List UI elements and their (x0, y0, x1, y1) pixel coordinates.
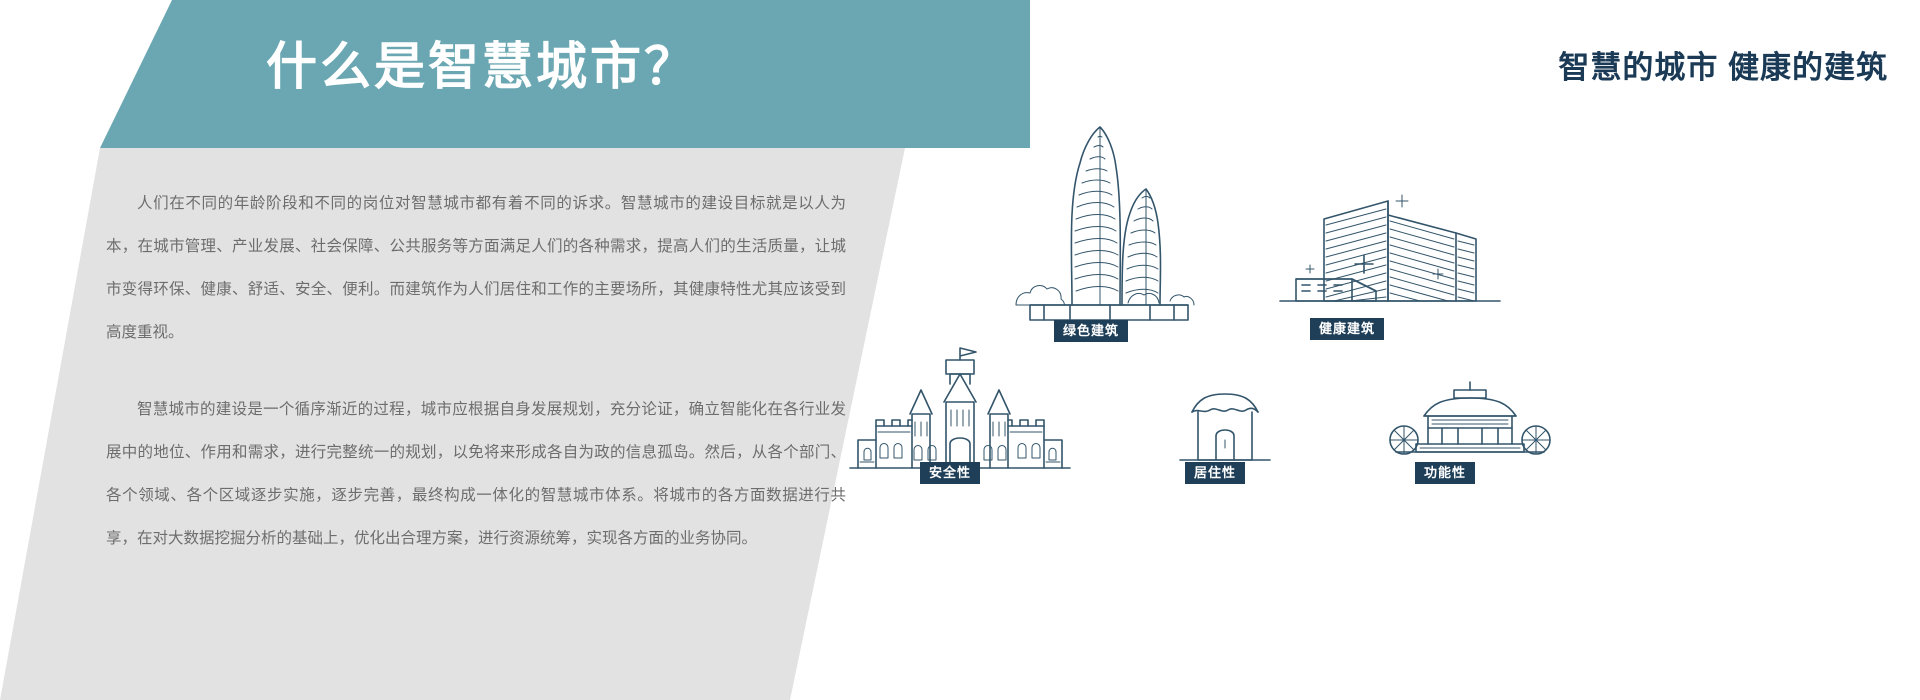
castle-icon (850, 340, 1070, 470)
illustration-label-safety: 安全性 (920, 462, 980, 484)
illustration-label-functionality: 功能性 (1415, 462, 1475, 484)
illustration-area: 绿色建筑 (840, 90, 1920, 610)
illustration-label-healthy-building: 健康建筑 (1310, 318, 1384, 340)
paragraph-1: 人们在不同的年龄阶段和不同的岗位对智慧城市都有着不同的诉求。智慧城市的建设目标就… (106, 182, 846, 354)
house-tent-icon (1180, 378, 1270, 468)
hospital-block-icon (1280, 175, 1500, 325)
pavilion-icon (1380, 372, 1560, 468)
illustration-label-green-building: 绿色建筑 (1054, 320, 1128, 342)
illustration-label-livability: 居住性 (1185, 462, 1245, 484)
body-text-block: 人们在不同的年龄阶段和不同的岗位对智慧城市都有着不同的诉求。智慧城市的建设目标就… (106, 182, 846, 560)
slide-canvas: 什么是智慧城市？ 智慧的城市 健康的建筑 人们在不同的年龄阶段和不同的岗位对智慧… (0, 0, 1920, 700)
slogan-heading: 智慧的城市 健康的建筑 (1558, 42, 1888, 87)
paragraph-2: 智慧城市的建设是一个循序渐近的过程，城市应根据自身发展规划，充分论证，确立智能化… (106, 388, 846, 560)
twin-towers-icon (1010, 105, 1210, 320)
page-title: 什么是智慧城市？ (266, 36, 698, 97)
